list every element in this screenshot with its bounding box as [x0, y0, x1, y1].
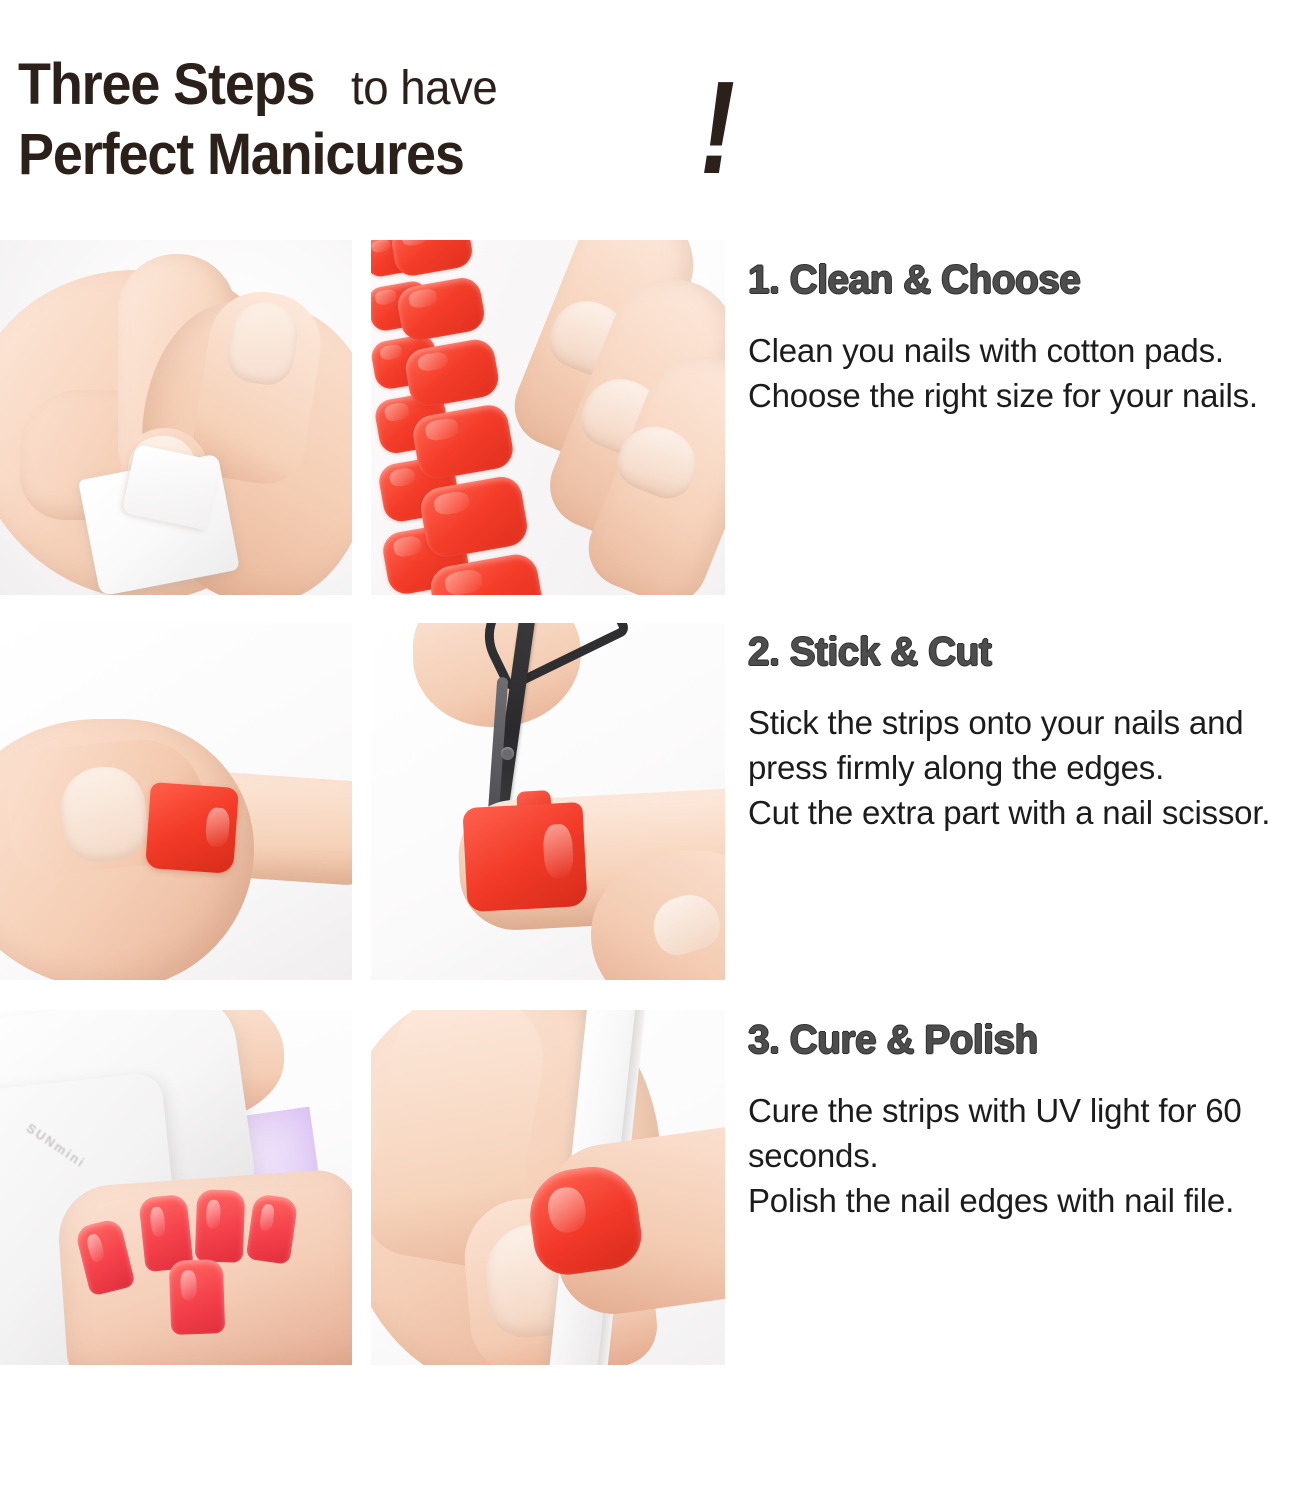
- step-3-body: Cure the strips with UV light for 60 sec…: [748, 1089, 1300, 1224]
- step-3: 3. Cure & Polish Cure the strips with UV…: [748, 1018, 1300, 1224]
- scissor-pivot: [501, 747, 514, 760]
- photo-cure-uv-lamp: SUNmini: [0, 1010, 352, 1365]
- step-2-body: Stick the strips onto your nails and pre…: [748, 701, 1300, 836]
- photo-clean-cotton-pad: [0, 240, 352, 595]
- photo-stick-strip: [0, 623, 352, 980]
- step-2: 2. Stick & Cut Stick the strips onto you…: [748, 630, 1300, 836]
- step-2-heading: 2. Stick & Cut: [748, 630, 1283, 675]
- title-line-2: Perfect Manicures: [18, 126, 818, 184]
- applied-nail-strip: [462, 802, 587, 912]
- title-strong-2: Perfect Manicures: [18, 126, 464, 184]
- step-1-heading: 1. Clean & Choose: [748, 258, 1283, 303]
- step-1-body: Clean you nails with cotton pads. Choose…: [748, 329, 1300, 419]
- photo-polish-nail-file: [371, 1010, 725, 1365]
- page-title: Three Stepsto have Perfect Manicures: [18, 56, 818, 206]
- red-nail: [169, 1259, 226, 1335]
- step-3-heading: 3. Cure & Polish: [748, 1018, 1283, 1063]
- title-line-1: Three Stepsto have: [18, 56, 818, 114]
- applied-nail-strip: [145, 782, 239, 874]
- red-nail: [195, 1189, 245, 1263]
- title-light-1: to have: [351, 65, 497, 113]
- exclamation-mark: !: [700, 62, 735, 194]
- title-strong-1: Three Steps: [18, 56, 314, 114]
- red-nail: [246, 1193, 299, 1264]
- step-1: 1. Clean & Choose Clean you nails with c…: [748, 258, 1300, 419]
- photo-choose-strip-size: [371, 240, 725, 595]
- photo-cut-strip: [371, 623, 725, 980]
